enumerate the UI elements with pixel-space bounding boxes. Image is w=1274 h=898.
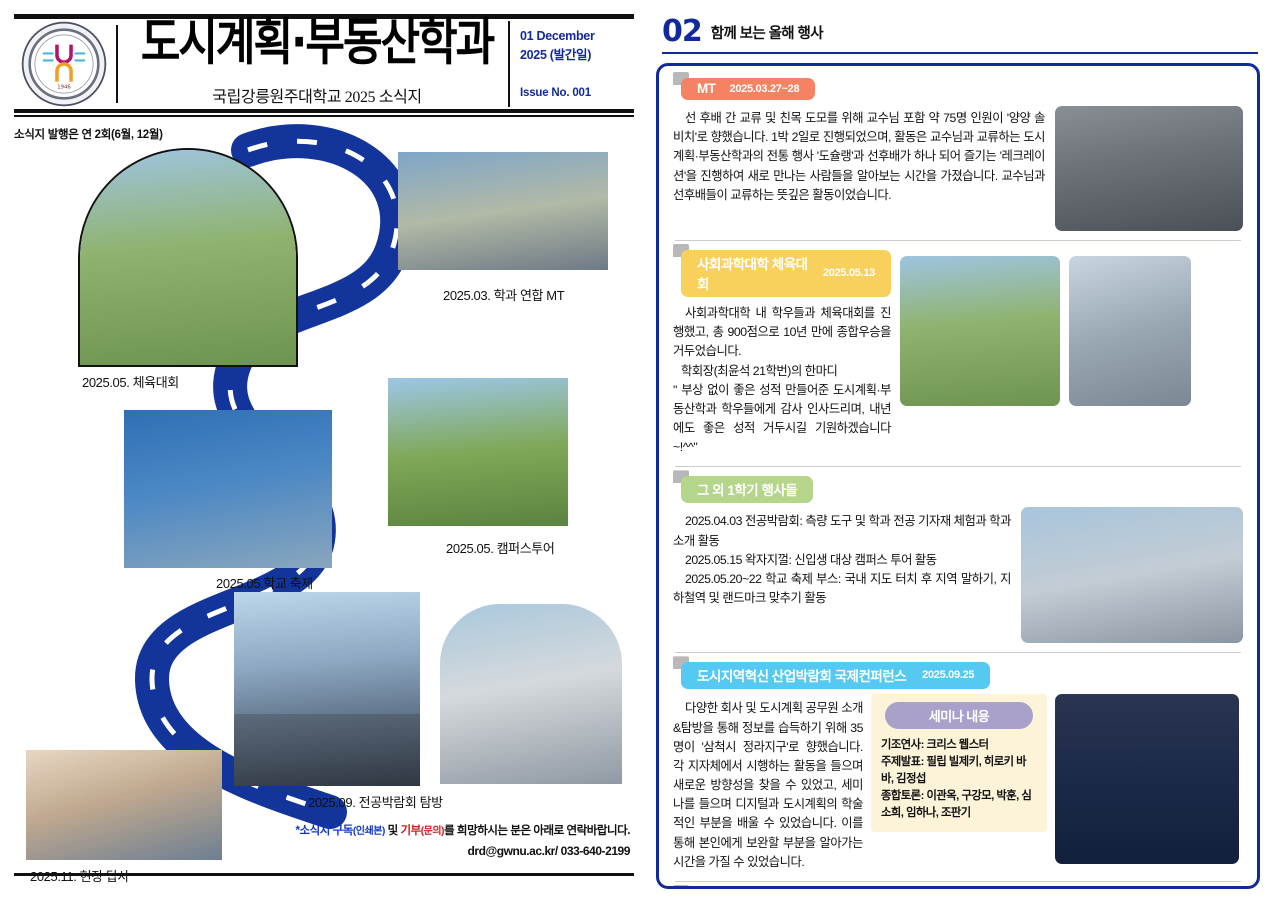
subscription-contact-note: *소식지 구독(인쇄본) 및 기부(문의)를 희망하시는 분은 아래로 연락바랍… [280, 821, 630, 862]
school-festival-photo [124, 410, 332, 568]
donate-sub-label: (문의) [421, 826, 444, 837]
seminar-content-box: 세미나 내용 기조연사: 크리스 웹스터 주제발표: 필립 빌제키, 히로키 바… [871, 694, 1047, 832]
expo-tent-photo [440, 604, 622, 784]
issue-number: Issue No. 001 [520, 87, 634, 99]
badge-corner-tab-icon [673, 885, 689, 889]
event-body-mt: 선 후배 간 교류 및 친목 도모를 위해 교수님 포함 약 75명 인원이 '… [673, 109, 1045, 205]
event-block-sports: 사회과학대학 체육대회 2025.05.13 사회과학대학 내 학우들과 체육대… [673, 250, 1243, 457]
masthead: 1946 도시계획·부동산학과 국립강릉원주대학교 2025 소식지 01 De… [14, 19, 634, 107]
footer-conjunction: 및 [385, 825, 401, 837]
school-festival-caption: 2025.05.학교 축제 [216, 573, 313, 592]
badge-mt: MT 2025.03.27~28 [681, 78, 815, 100]
seminar-value-1: 크리스 웹스터 [924, 739, 989, 751]
contact-email-phone[interactable]: drd@gwnu.ac.kr/ 033-640-2199 [280, 841, 630, 862]
seminar-label-1: 기조연사: [881, 739, 924, 751]
frequency-note: 소식지 발행은 연 2회(6월, 12월) [14, 126, 634, 142]
page-title: 도시계획·부동산학과 [141, 17, 493, 70]
masthead-bottom-rule [14, 109, 634, 113]
seminar-line-1: 기조연사: 크리스 웹스터 [881, 737, 1037, 754]
event-block-other-first-semester: 그 외 1학기 행사들 2025.04.03 전공박람회: 측량 도구 및 학과… [673, 476, 1243, 643]
event-body-conference: 다양한 회사 및 도시계획 공무원 소개&탐방을 통해 정보를 습득하기 위해 … [673, 699, 863, 872]
section-underline [662, 52, 1258, 54]
sports-day-photo [78, 148, 298, 367]
subscribe-label: *소식지 구독 [295, 825, 352, 837]
badge-other-events: 그 외 1학기 행사들 [681, 476, 813, 503]
other-event-line-2: 2025.05.15 왁자지껄: 신입생 대상 캠퍼스 투어 활동 [673, 551, 1011, 570]
newsletter-page: 1946 도시계획·부동산학과 국립강릉원주대학교 2025 소식지 01 De… [0, 0, 1274, 898]
expo-poster-photo [234, 592, 420, 714]
expo-group-photo [234, 714, 420, 786]
event-body-sports-p3: " 부상 없이 좋은 성적 만들어준 도시계획·부동산학과 학우들에게 감사 인… [673, 381, 891, 458]
seminar-label-2: 주제발표: [881, 756, 924, 768]
right-column: 02 함께 보는 올해 행사 MT 2025.03.27~28 선 후배 간 교… [648, 0, 1274, 898]
joint-mt-caption: 2025.03. 학과 연합 MT [443, 285, 564, 304]
badge-title: 그 외 1학기 행사들 [697, 479, 797, 499]
section-divider-3 [675, 652, 1241, 653]
seminar-line-2: 주제발표: 필립 빌제키, 히로키 바바, 김정섭 [881, 754, 1037, 788]
masthead-bottom-rule-2 [14, 115, 634, 117]
section-divider-2 [675, 466, 1241, 467]
section-header: 02 함께 보는 올해 행사 [656, 18, 1260, 45]
events-panel: MT 2025.03.27~28 선 후배 간 교류 및 친목 도모를 위해 교… [656, 63, 1260, 889]
mt-dinner-photo [1055, 106, 1243, 231]
event-block-conference: 도시지역혁신 산업박람회 국제컨퍼런스 2025.09.25 다양한 회사 및 … [673, 662, 1243, 872]
university-emblem-icon: 1946 [14, 21, 114, 107]
sports-day-caption: 2025.05. 체육대회 [82, 372, 179, 391]
section-divider-4 [675, 881, 1241, 882]
seminar-pill-label: 세미나 내용 [885, 702, 1033, 729]
other-event-line-3: 2025.05.20~22 학교 축제 부스: 국내 지도 터치 후 지역 말하… [673, 570, 1011, 608]
trophy-celebration-photo [1069, 256, 1191, 406]
event-body-sports-p1: 사회과학대학 내 학우들과 체육대회를 진행했고, 총 900점으로 10년 만… [673, 304, 891, 362]
badge-date: 2025.03.27~28 [730, 83, 800, 95]
issue-date-line2: 2025 (발간일) [520, 46, 634, 65]
masthead-divider [116, 25, 118, 103]
title-block: 도시계획·부동산학과 국립강릉원주대학교 2025 소식지 [126, 21, 508, 107]
badge-body: 그 외 1학기 행사들 [681, 476, 813, 503]
major-expo-booth-photo [1021, 507, 1243, 643]
section-title: 함께 보는 올해 행사 [711, 22, 823, 45]
joint-mt-photo [398, 152, 608, 270]
left-column: 1946 도시계획·부동산학과 국립강릉원주대학교 2025 소식지 01 De… [0, 0, 648, 898]
field-trip-left-photo [26, 750, 222, 860]
badge-date: 2025.05.13 [823, 267, 875, 279]
event-body-sports-p2: 학회장(최윤석 21학번)의 한마디 [673, 362, 891, 381]
subscribe-sub-label: (인쇄본) [353, 826, 385, 837]
seminar-label-3: 종합토론: [881, 790, 924, 802]
sports-team-photo [900, 256, 1060, 406]
issue-block: 01 December 2025 (발간일) Issue No. 001 [508, 21, 634, 107]
campus-tour-caption: 2025.05. 캠퍼스투어 [446, 538, 554, 557]
conference-hall-photo [1055, 694, 1239, 864]
donate-label: 기부 [401, 825, 421, 837]
badge-body: 도시지역혁신 산업박람회 국제컨퍼런스 2025.09.25 [681, 662, 990, 689]
badge-date: 2025.09.25 [922, 669, 974, 681]
issue-date-line1: 01 December [520, 27, 634, 46]
svg-text:1946: 1946 [57, 85, 71, 91]
badge-title: MT [697, 81, 716, 96]
event-block-mt: MT 2025.03.27~28 선 후배 간 교류 및 친목 도모를 위해 교… [673, 78, 1243, 231]
badge-body: 사회과학대학 체육대회 2025.05.13 [681, 250, 891, 297]
footer-tail-text: 를 희망하시는 분은 아래로 연락바랍니다. [444, 825, 630, 837]
other-event-line-1: 2025.04.03 전공박람회: 측량 도구 및 학과 전공 기자재 체험과 … [673, 512, 1011, 550]
badge-body: MT 2025.03.27~28 [681, 78, 815, 100]
section-divider-1 [675, 240, 1241, 241]
section-number: 02 [662, 18, 702, 45]
badge-title: 도시지역혁신 산업박람회 국제컨퍼런스 [697, 665, 906, 685]
badge-sports: 사회과학대학 체육대회 2025.05.13 [681, 250, 891, 297]
badge-title: 사회과학대학 체육대회 [697, 253, 814, 293]
expo-visit-caption: 2025.09. 전공박람회 탐방 [308, 792, 443, 811]
emblem-svg: 1946 [20, 20, 108, 108]
seminar-line-3: 종합토론: 이관옥, 구강모, 박훈, 심소희, 임하나, 조판기 [881, 788, 1037, 822]
page-subtitle: 국립강릉원주대학교 2025 소식지 [212, 83, 421, 107]
footer-rule [14, 873, 634, 876]
campus-tour-photo [388, 378, 568, 526]
badge-conference: 도시지역혁신 산업박람회 국제컨퍼런스 2025.09.25 [681, 662, 990, 689]
